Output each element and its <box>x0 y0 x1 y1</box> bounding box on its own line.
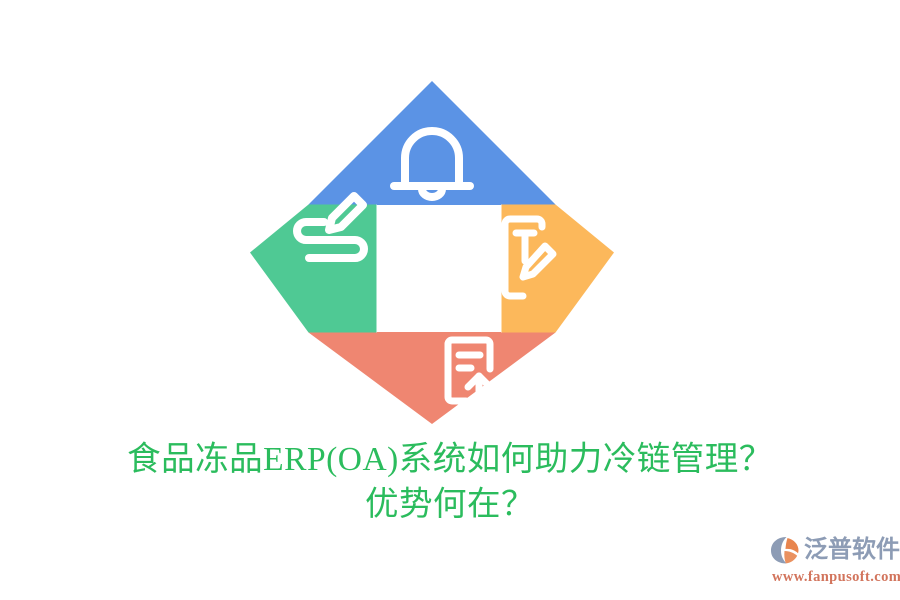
four-segment-diamond-graphic <box>250 81 614 424</box>
diamond-center-square <box>377 205 501 332</box>
diamond-segment-right-exact <box>502 205 615 333</box>
fanpu-swoosh-logo-icon <box>770 535 802 565</box>
diamond-segment-bottom-exact <box>309 332 556 424</box>
brand-name: 泛普软件 <box>804 536 900 564</box>
poster-canvas: 食品冻品ERP(OA)系统如何助力冷链管理？ 优势何在？ 泛普软件 www.fa… <box>0 0 900 600</box>
page-title-line-2: 优势何在？ <box>0 482 900 527</box>
page-title-line-1: 食品冻品ERP(OA)系统如何助力冷链管理？ <box>0 437 900 482</box>
poster-title: 食品冻品ERP(OA)系统如何助力冷链管理？ 优势何在？ <box>0 437 900 527</box>
brand-logo-row: 泛普软件 <box>770 533 894 567</box>
brand-watermark: 泛普软件 www.fanpusoft.com <box>770 533 894 589</box>
brand-url: www.fanpusoft.com <box>772 568 894 586</box>
